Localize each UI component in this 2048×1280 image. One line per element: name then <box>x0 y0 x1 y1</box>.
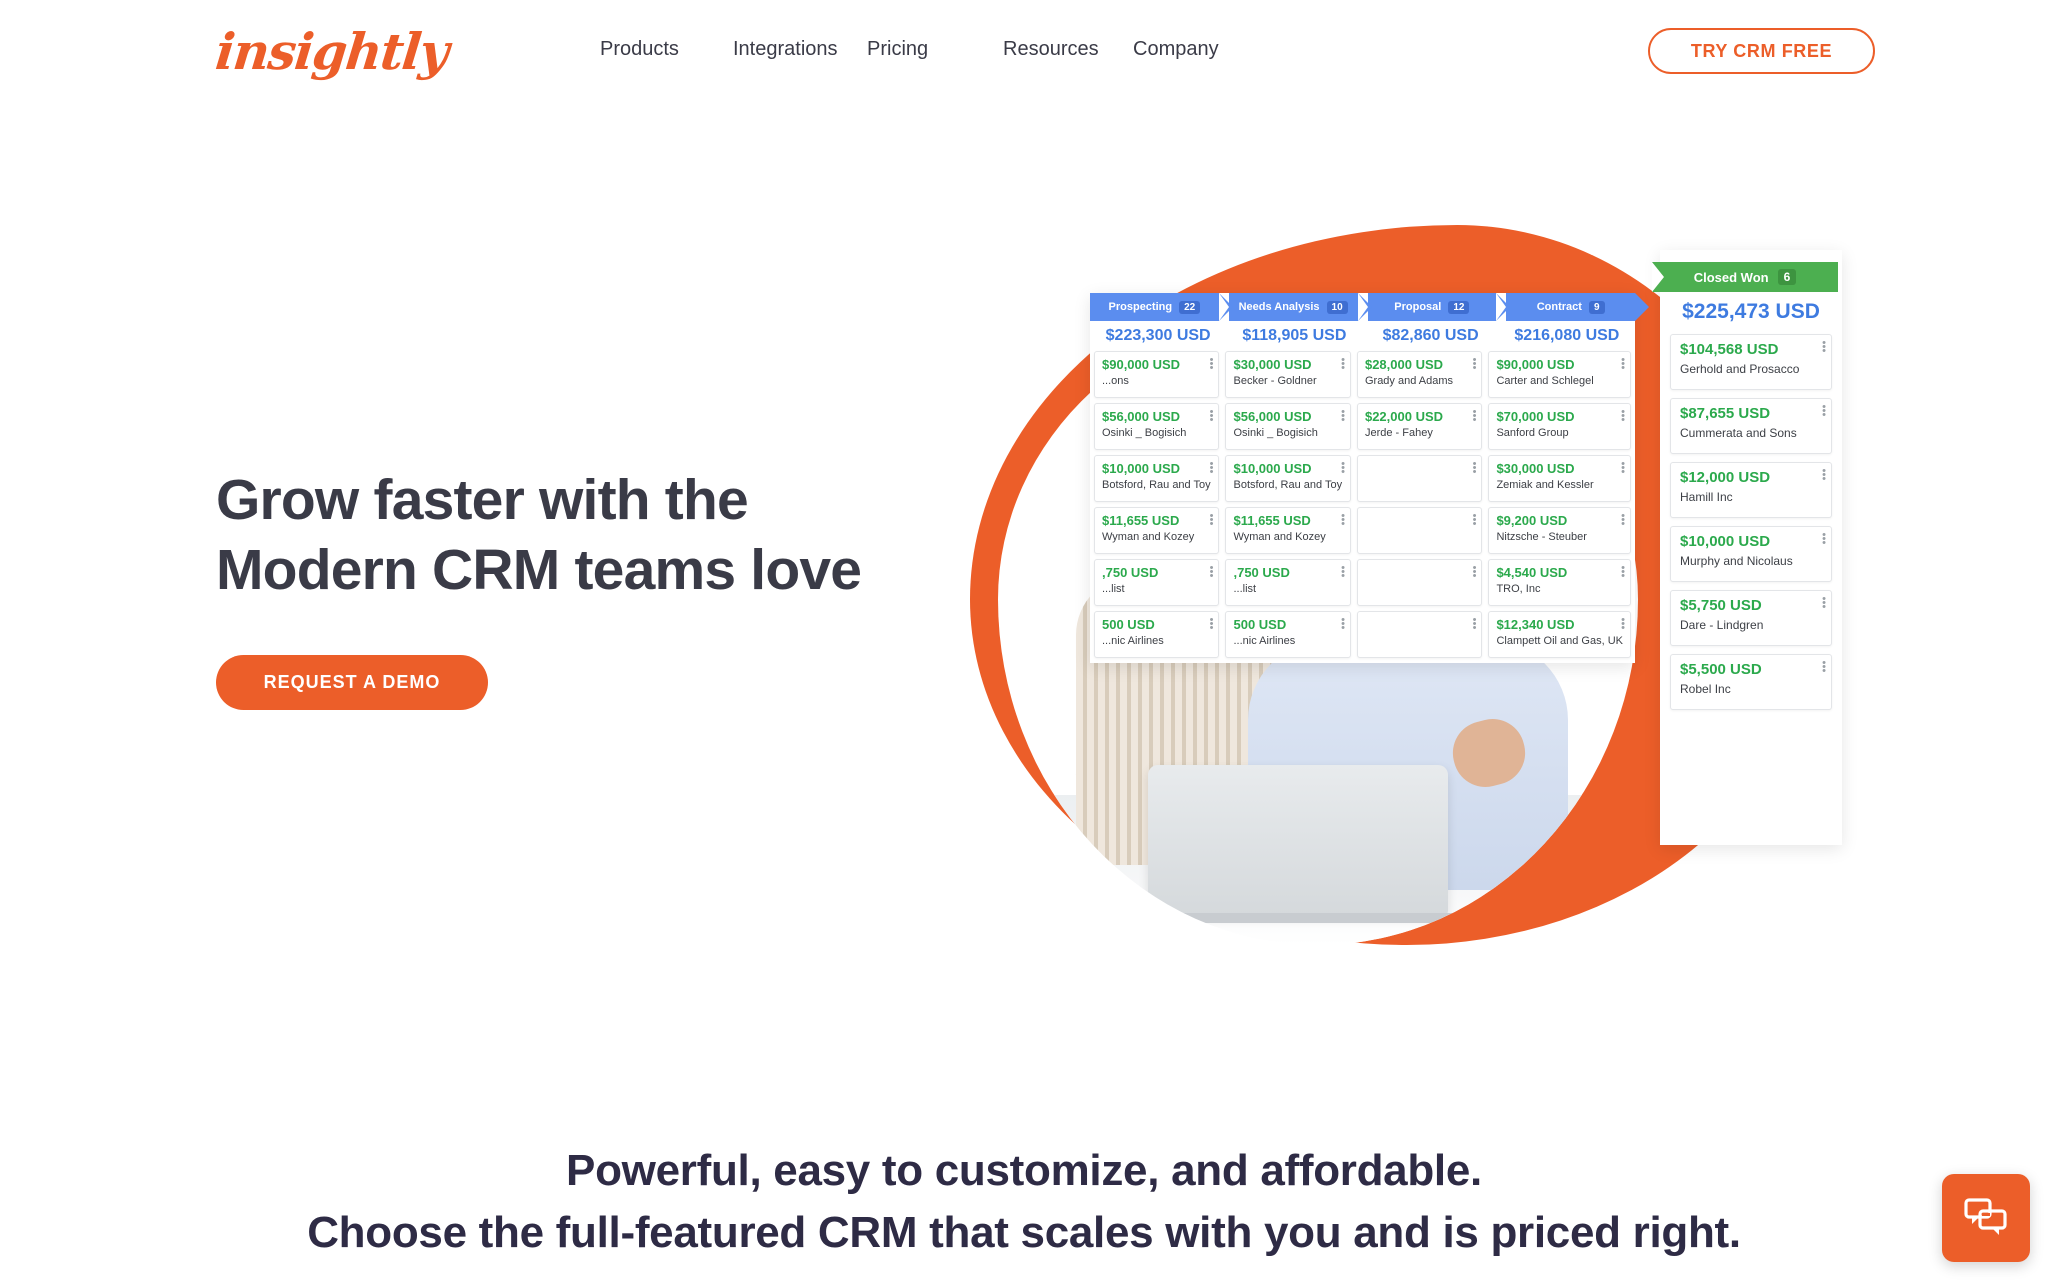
won-card[interactable]: $5,500 USDRobel Inc••• <box>1670 654 1832 710</box>
pipeline-column-prospecting: $90,000 USD...ons••• $56,000 USDOsinki _… <box>1094 351 1219 658</box>
card-amount: $9,200 USD <box>1496 513 1623 528</box>
hero-artwork: Prospecting 22 Needs Analysis 10 Proposa… <box>960 215 1840 975</box>
card-account: Becker - Goldner <box>1233 375 1342 387</box>
main-navigation: Products Integrations Pricing Resources … <box>600 38 1253 61</box>
opportunity-card[interactable]: $10,000 USDBotsford, Rau and Toy••• <box>1225 455 1350 502</box>
card-account: Botsford, Rau and Toy <box>1102 479 1211 491</box>
opportunity-card[interactable]: $90,000 USD...ons••• <box>1094 351 1219 398</box>
card-amount: $11,655 USD <box>1233 513 1342 528</box>
stage-count: 22 <box>1179 301 1200 314</box>
chat-bubbles-icon <box>1963 1197 2009 1239</box>
card-amount: $70,000 USD <box>1496 409 1623 424</box>
stage-label: Contract <box>1537 301 1582 313</box>
opportunity-card[interactable]: ,750 USD...list••• <box>1225 559 1350 606</box>
card-menu-icon[interactable]: ••• <box>1341 358 1345 370</box>
card-amount: $4,540 USD <box>1496 565 1623 580</box>
card-amount: $90,000 USD <box>1102 357 1211 372</box>
opportunity-card[interactable]: $90,000 USDCarter and Schlegel••• <box>1488 351 1631 398</box>
card-menu-icon[interactable]: ••• <box>1822 405 1826 417</box>
pipeline-columns: $90,000 USD...ons••• $56,000 USDOsinki _… <box>1090 351 1635 658</box>
card-amount: $87,655 USD <box>1680 405 1822 422</box>
card-menu-icon[interactable]: ••• <box>1210 358 1214 370</box>
stage-label: Proposal <box>1394 301 1441 313</box>
opportunity-card[interactable]: $11,655 USDWyman and Kozey••• <box>1094 507 1219 554</box>
opportunity-card[interactable]: ••• <box>1357 455 1482 502</box>
nav-item-integrations[interactable]: Integrations <box>733 38 867 61</box>
closed-won-count: 6 <box>1778 269 1797 285</box>
opportunity-card[interactable]: 500 USD...nic Airlines••• <box>1225 611 1350 658</box>
stage-total-proposal: $82,860 USD <box>1363 327 1499 345</box>
card-menu-icon[interactable]: ••• <box>1473 514 1477 526</box>
card-amount: $12,340 USD <box>1496 617 1623 632</box>
stage-count: 12 <box>1448 301 1469 314</box>
card-account: ...list <box>1233 583 1342 595</box>
opportunity-card[interactable]: ••• <box>1357 611 1482 658</box>
card-amount: $10,000 USD <box>1233 461 1342 476</box>
card-account: Robel Inc <box>1680 682 1822 696</box>
won-card[interactable]: $87,655 USDCummerata and Sons••• <box>1670 398 1832 454</box>
card-account: Wyman and Kozey <box>1233 531 1342 543</box>
stage-label: Needs Analysis <box>1239 301 1320 313</box>
card-account: Sanford Group <box>1496 427 1623 439</box>
card-amount: $22,000 USD <box>1365 409 1474 424</box>
card-menu-icon[interactable]: ••• <box>1822 533 1826 545</box>
card-menu-icon[interactable]: ••• <box>1473 462 1477 474</box>
card-amount: ,750 USD <box>1102 565 1211 580</box>
opportunity-card[interactable]: ••• <box>1357 559 1482 606</box>
card-menu-icon[interactable]: ••• <box>1473 358 1477 370</box>
page-title: Grow faster with the Modern CRM teams lo… <box>216 465 861 605</box>
card-menu-icon[interactable]: ••• <box>1621 566 1625 578</box>
card-account: Wyman and Kozey <box>1102 531 1211 543</box>
hero-title-line1: Grow faster with the <box>216 468 748 532</box>
card-account: ...ons <box>1102 375 1211 387</box>
opportunity-card[interactable]: $9,200 USDNitzsche - Steuber••• <box>1488 507 1631 554</box>
pipeline-stage-totals: $223,300 USD $118,905 USD $82,860 USD $2… <box>1090 327 1635 345</box>
closed-won-label: Closed Won <box>1694 270 1769 285</box>
card-amount: $5,750 USD <box>1680 597 1822 614</box>
card-menu-icon[interactable]: ••• <box>1210 566 1214 578</box>
try-crm-free-button[interactable]: TRY CRM FREE <box>1648 28 1875 74</box>
card-menu-icon[interactable]: ••• <box>1473 618 1477 630</box>
card-amount: $56,000 USD <box>1233 409 1342 424</box>
opportunity-card[interactable]: ,750 USD...list••• <box>1094 559 1219 606</box>
pipeline-stage-headers: Prospecting 22 Needs Analysis 10 Proposa… <box>1090 293 1635 321</box>
closed-won-list: $104,568 USDGerhold and Prosacco••• $87,… <box>1670 334 1832 710</box>
landing-page: insightly Products Integrations Pricing … <box>0 0 2048 1280</box>
card-account: Osinki _ Bogisich <box>1102 427 1211 439</box>
stage-count: 9 <box>1589 301 1605 314</box>
card-amount: $104,568 USD <box>1680 341 1822 358</box>
stage-header-contract[interactable]: Contract 9 <box>1506 293 1635 321</box>
stage-total-prospecting: $223,300 USD <box>1090 327 1226 345</box>
nav-item-pricing[interactable]: Pricing <box>867 38 1003 61</box>
card-menu-icon[interactable]: ••• <box>1473 566 1477 578</box>
stage-header-prospecting[interactable]: Prospecting 22 <box>1090 293 1219 321</box>
closed-won-header[interactable]: Closed Won 6 <box>1652 262 1838 292</box>
card-amount: $30,000 USD <box>1233 357 1342 372</box>
nav-item-products[interactable]: Products <box>600 38 733 61</box>
subtitle-line1: Powerful, easy to customize, and afforda… <box>0 1140 2048 1202</box>
opportunity-card[interactable]: $10,000 USDBotsford, Rau and Toy••• <box>1094 455 1219 502</box>
won-card[interactable]: $12,000 USDHamill Inc••• <box>1670 462 1832 518</box>
stage-label: Prospecting <box>1109 301 1173 313</box>
card-amount: ,750 USD <box>1233 565 1342 580</box>
value-proposition: Powerful, easy to customize, and afforda… <box>0 1140 2048 1264</box>
stage-total-needs-analysis: $118,905 USD <box>1226 327 1362 345</box>
opportunity-card[interactable]: $12,340 USDClampett Oil and Gas, UK••• <box>1488 611 1631 658</box>
pipeline-column-contract: $90,000 USDCarter and Schlegel••• $70,00… <box>1488 351 1631 658</box>
closed-won-total: $225,473 USD <box>1670 300 1832 324</box>
stage-header-proposal[interactable]: Proposal 12 <box>1368 293 1497 321</box>
stage-count: 10 <box>1327 301 1348 314</box>
opportunity-card[interactable]: ••• <box>1357 507 1482 554</box>
card-account: Dare - Lindgren <box>1680 618 1822 632</box>
request-a-demo-button[interactable]: REQUEST A DEMO <box>216 655 488 710</box>
site-header: insightly Products Integrations Pricing … <box>0 0 2048 108</box>
closed-won-panel: Closed Won 6 $225,473 USD $104,568 USDGe… <box>1660 250 1842 845</box>
card-amount: 500 USD <box>1233 617 1342 632</box>
opportunity-card[interactable]: $56,000 USDOsinki _ Bogisich••• <box>1225 403 1350 450</box>
opportunity-card[interactable]: 500 USD...nic Airlines••• <box>1094 611 1219 658</box>
card-menu-icon[interactable]: ••• <box>1822 661 1826 673</box>
opportunity-card[interactable]: $22,000 USDJerde - Fahey••• <box>1357 403 1482 450</box>
card-menu-icon[interactable]: ••• <box>1822 341 1826 353</box>
laptop <box>1148 765 1448 915</box>
card-menu-icon[interactable]: ••• <box>1341 566 1345 578</box>
pipeline-board: Prospecting 22 Needs Analysis 10 Proposa… <box>1090 293 1635 663</box>
card-amount: $10,000 USD <box>1102 461 1211 476</box>
won-card[interactable]: $104,568 USDGerhold and Prosacco••• <box>1670 334 1832 390</box>
card-amount: $28,000 USD <box>1365 357 1474 372</box>
card-account: Clampett Oil and Gas, UK <box>1496 635 1623 647</box>
card-account: ...nic Airlines <box>1233 635 1342 647</box>
card-account: Murphy and Nicolaus <box>1680 554 1822 568</box>
stage-total-contract: $216,080 USD <box>1499 327 1635 345</box>
card-menu-icon[interactable]: ••• <box>1341 410 1345 422</box>
opportunity-card[interactable]: $30,000 USDZemiak and Kessler••• <box>1488 455 1631 502</box>
card-menu-icon[interactable]: ••• <box>1621 462 1625 474</box>
won-card[interactable]: $10,000 USDMurphy and Nicolaus••• <box>1670 526 1832 582</box>
nav-item-resources[interactable]: Resources <box>1003 38 1133 61</box>
opportunity-card[interactable]: $28,000 USDGrady and Adams••• <box>1357 351 1482 398</box>
insightly-logo[interactable]: insightly <box>213 22 451 81</box>
card-menu-icon[interactable]: ••• <box>1621 618 1625 630</box>
card-menu-icon[interactable]: ••• <box>1621 358 1625 370</box>
card-account: Cummerata and Sons <box>1680 426 1822 440</box>
card-account: Botsford, Rau and Toy <box>1233 479 1342 491</box>
card-amount: 500 USD <box>1102 617 1211 632</box>
card-menu-icon[interactable]: ••• <box>1210 514 1214 526</box>
stage-header-needs-analysis[interactable]: Needs Analysis 10 <box>1229 293 1358 321</box>
card-menu-icon[interactable]: ••• <box>1210 410 1214 422</box>
card-account: TRO, Inc <box>1496 583 1623 595</box>
card-amount: $30,000 USD <box>1496 461 1623 476</box>
card-account: Hamill Inc <box>1680 490 1822 504</box>
card-account: Grady and Adams <box>1365 375 1474 387</box>
card-menu-icon[interactable]: ••• <box>1621 410 1625 422</box>
card-amount: $11,655 USD <box>1102 513 1211 528</box>
card-account: ...nic Airlines <box>1102 635 1211 647</box>
card-account: Carter and Schlegel <box>1496 375 1623 387</box>
card-menu-icon[interactable]: ••• <box>1341 618 1345 630</box>
card-menu-icon[interactable]: ••• <box>1210 462 1214 474</box>
subtitle-line2: Choose the full-featured CRM that scales… <box>0 1202 2048 1264</box>
card-menu-icon[interactable]: ••• <box>1822 469 1826 481</box>
card-menu-icon[interactable]: ••• <box>1341 514 1345 526</box>
opportunity-card[interactable]: $70,000 USDSanford Group••• <box>1488 403 1631 450</box>
card-menu-icon[interactable]: ••• <box>1210 618 1214 630</box>
opportunity-card[interactable]: $30,000 USDBecker - Goldner••• <box>1225 351 1350 398</box>
won-card[interactable]: $5,750 USDDare - Lindgren••• <box>1670 590 1832 646</box>
card-amount: $10,000 USD <box>1680 533 1822 550</box>
card-account: Gerhold and Prosacco <box>1680 362 1822 376</box>
nav-item-company[interactable]: Company <box>1133 38 1253 61</box>
chat-widget-button[interactable] <box>1942 1174 2030 1262</box>
hero-title-line2: Modern CRM teams love <box>216 535 861 605</box>
card-menu-icon[interactable]: ••• <box>1822 597 1826 609</box>
card-menu-icon[interactable]: ••• <box>1621 514 1625 526</box>
opportunity-card[interactable]: $56,000 USDOsinki _ Bogisich••• <box>1094 403 1219 450</box>
card-account: Zemiak and Kessler <box>1496 479 1623 491</box>
opportunity-card[interactable]: $4,540 USDTRO, Inc••• <box>1488 559 1631 606</box>
card-amount: $12,000 USD <box>1680 469 1822 486</box>
opportunity-card[interactable]: $11,655 USDWyman and Kozey••• <box>1225 507 1350 554</box>
card-amount: $5,500 USD <box>1680 661 1822 678</box>
card-account: Osinki _ Bogisich <box>1233 427 1342 439</box>
card-account: Nitzsche - Steuber <box>1496 531 1623 543</box>
card-amount: $56,000 USD <box>1102 409 1211 424</box>
card-menu-icon[interactable]: ••• <box>1473 410 1477 422</box>
card-account: ...list <box>1102 583 1211 595</box>
card-account: Jerde - Fahey <box>1365 427 1474 439</box>
pipeline-column-needs-analysis: $30,000 USDBecker - Goldner••• $56,000 U… <box>1225 351 1350 658</box>
card-amount: $90,000 USD <box>1496 357 1623 372</box>
card-menu-icon[interactable]: ••• <box>1341 462 1345 474</box>
pipeline-column-proposal: $28,000 USDGrady and Adams••• $22,000 US… <box>1357 351 1482 658</box>
